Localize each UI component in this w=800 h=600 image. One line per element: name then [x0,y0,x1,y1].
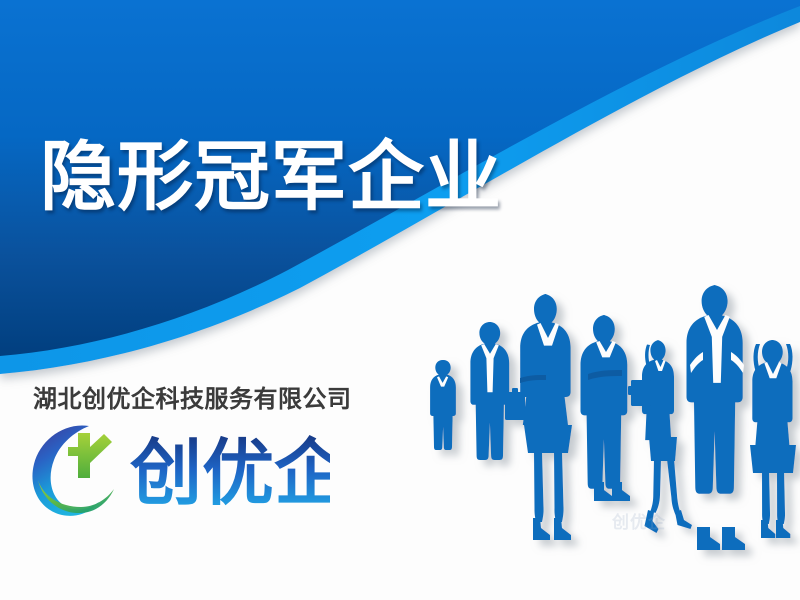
silhouette-person-5 [628,340,692,533]
silhouette-person-7 [750,340,796,538]
logo-swoosh-icon [26,420,130,520]
silhouette-person-6 [687,285,746,550]
logo-text: 创优企 [130,431,330,515]
slide-canvas: 隐形冠军企业 [0,0,800,600]
company-name: 湖北创优企科技服务有限公司 [33,379,352,414]
logo-wordmark: 创优企 [130,428,330,516]
silhouette-person-1 [430,360,456,450]
page-title: 隐形冠军企业 [40,138,502,216]
silhouette-person-3 [520,294,572,540]
silhouette-person-2 [470,322,525,460]
company-logo: 创优企 [26,418,326,522]
silhouette-person-4 [581,315,631,501]
business-people-silhouettes [420,282,800,582]
